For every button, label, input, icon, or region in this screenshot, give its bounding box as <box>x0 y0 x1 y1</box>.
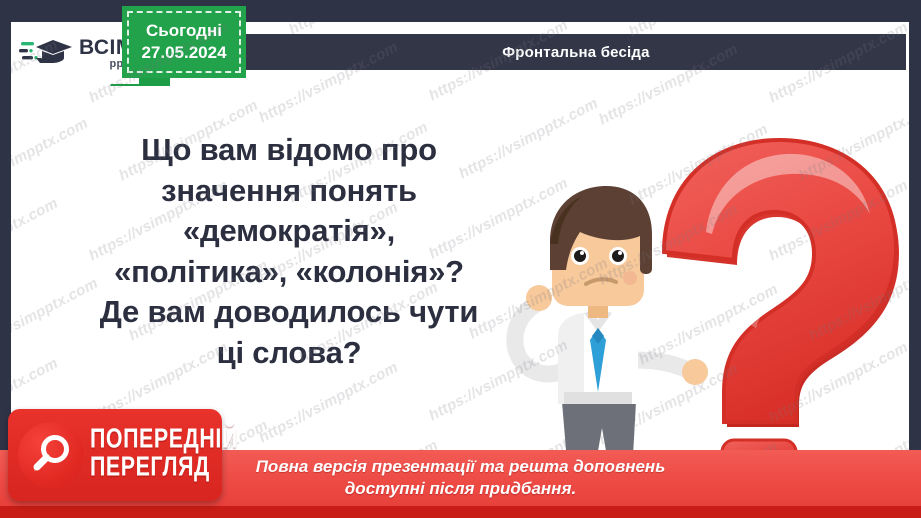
purchase-notice-line: Повна версія презентації та решта доповн… <box>256 456 666 478</box>
slide-frame: Що вам відомо про значення понять «демок… <box>0 0 921 518</box>
magnifier-icon <box>28 432 74 478</box>
question-line: Де вам доводилось чути <box>29 292 549 333</box>
preview-badge-line: ПОПЕРЕДНІЙ <box>90 424 238 452</box>
today-label: Сьогодні <box>146 21 222 41</box>
today-date-badge: Сьогодні 27.05.2024 <box>122 6 246 78</box>
question-line: значення понять <box>29 171 549 212</box>
question-line: «політика», «колонія»? <box>29 252 549 293</box>
graduation-cap-icon <box>19 35 75 71</box>
today-date: 27.05.2024 <box>141 43 226 63</box>
header-bar: Фронтальна бесіда <box>246 34 906 70</box>
bottom-frame-strip <box>0 506 921 518</box>
illustration-svg <box>506 92 909 492</box>
illustration <box>506 92 909 492</box>
question-line: ці слова? <box>29 333 549 374</box>
magnifier-icon-circle <box>18 422 84 488</box>
preview-badge-line: ПЕРЕГЛЯД <box>90 452 238 480</box>
question-line: Що вам відомо про <box>29 130 549 171</box>
purchase-notice-line: доступні після придбання. <box>345 478 576 500</box>
header-title: Фронтальна бесіда <box>502 44 649 61</box>
question-line: «демократія», <box>29 211 549 252</box>
preview-badge-text: ПОПЕРЕДНІЙ ПЕРЕГЛЯД <box>90 427 249 483</box>
question-text-block: Що вам відомо про значення понять «демок… <box>29 130 549 374</box>
preview-badge[interactable]: ПОПЕРЕДНІЙ ПЕРЕГЛЯД <box>8 409 222 501</box>
brand-logo: ВСІМ pptx <box>11 22 139 84</box>
